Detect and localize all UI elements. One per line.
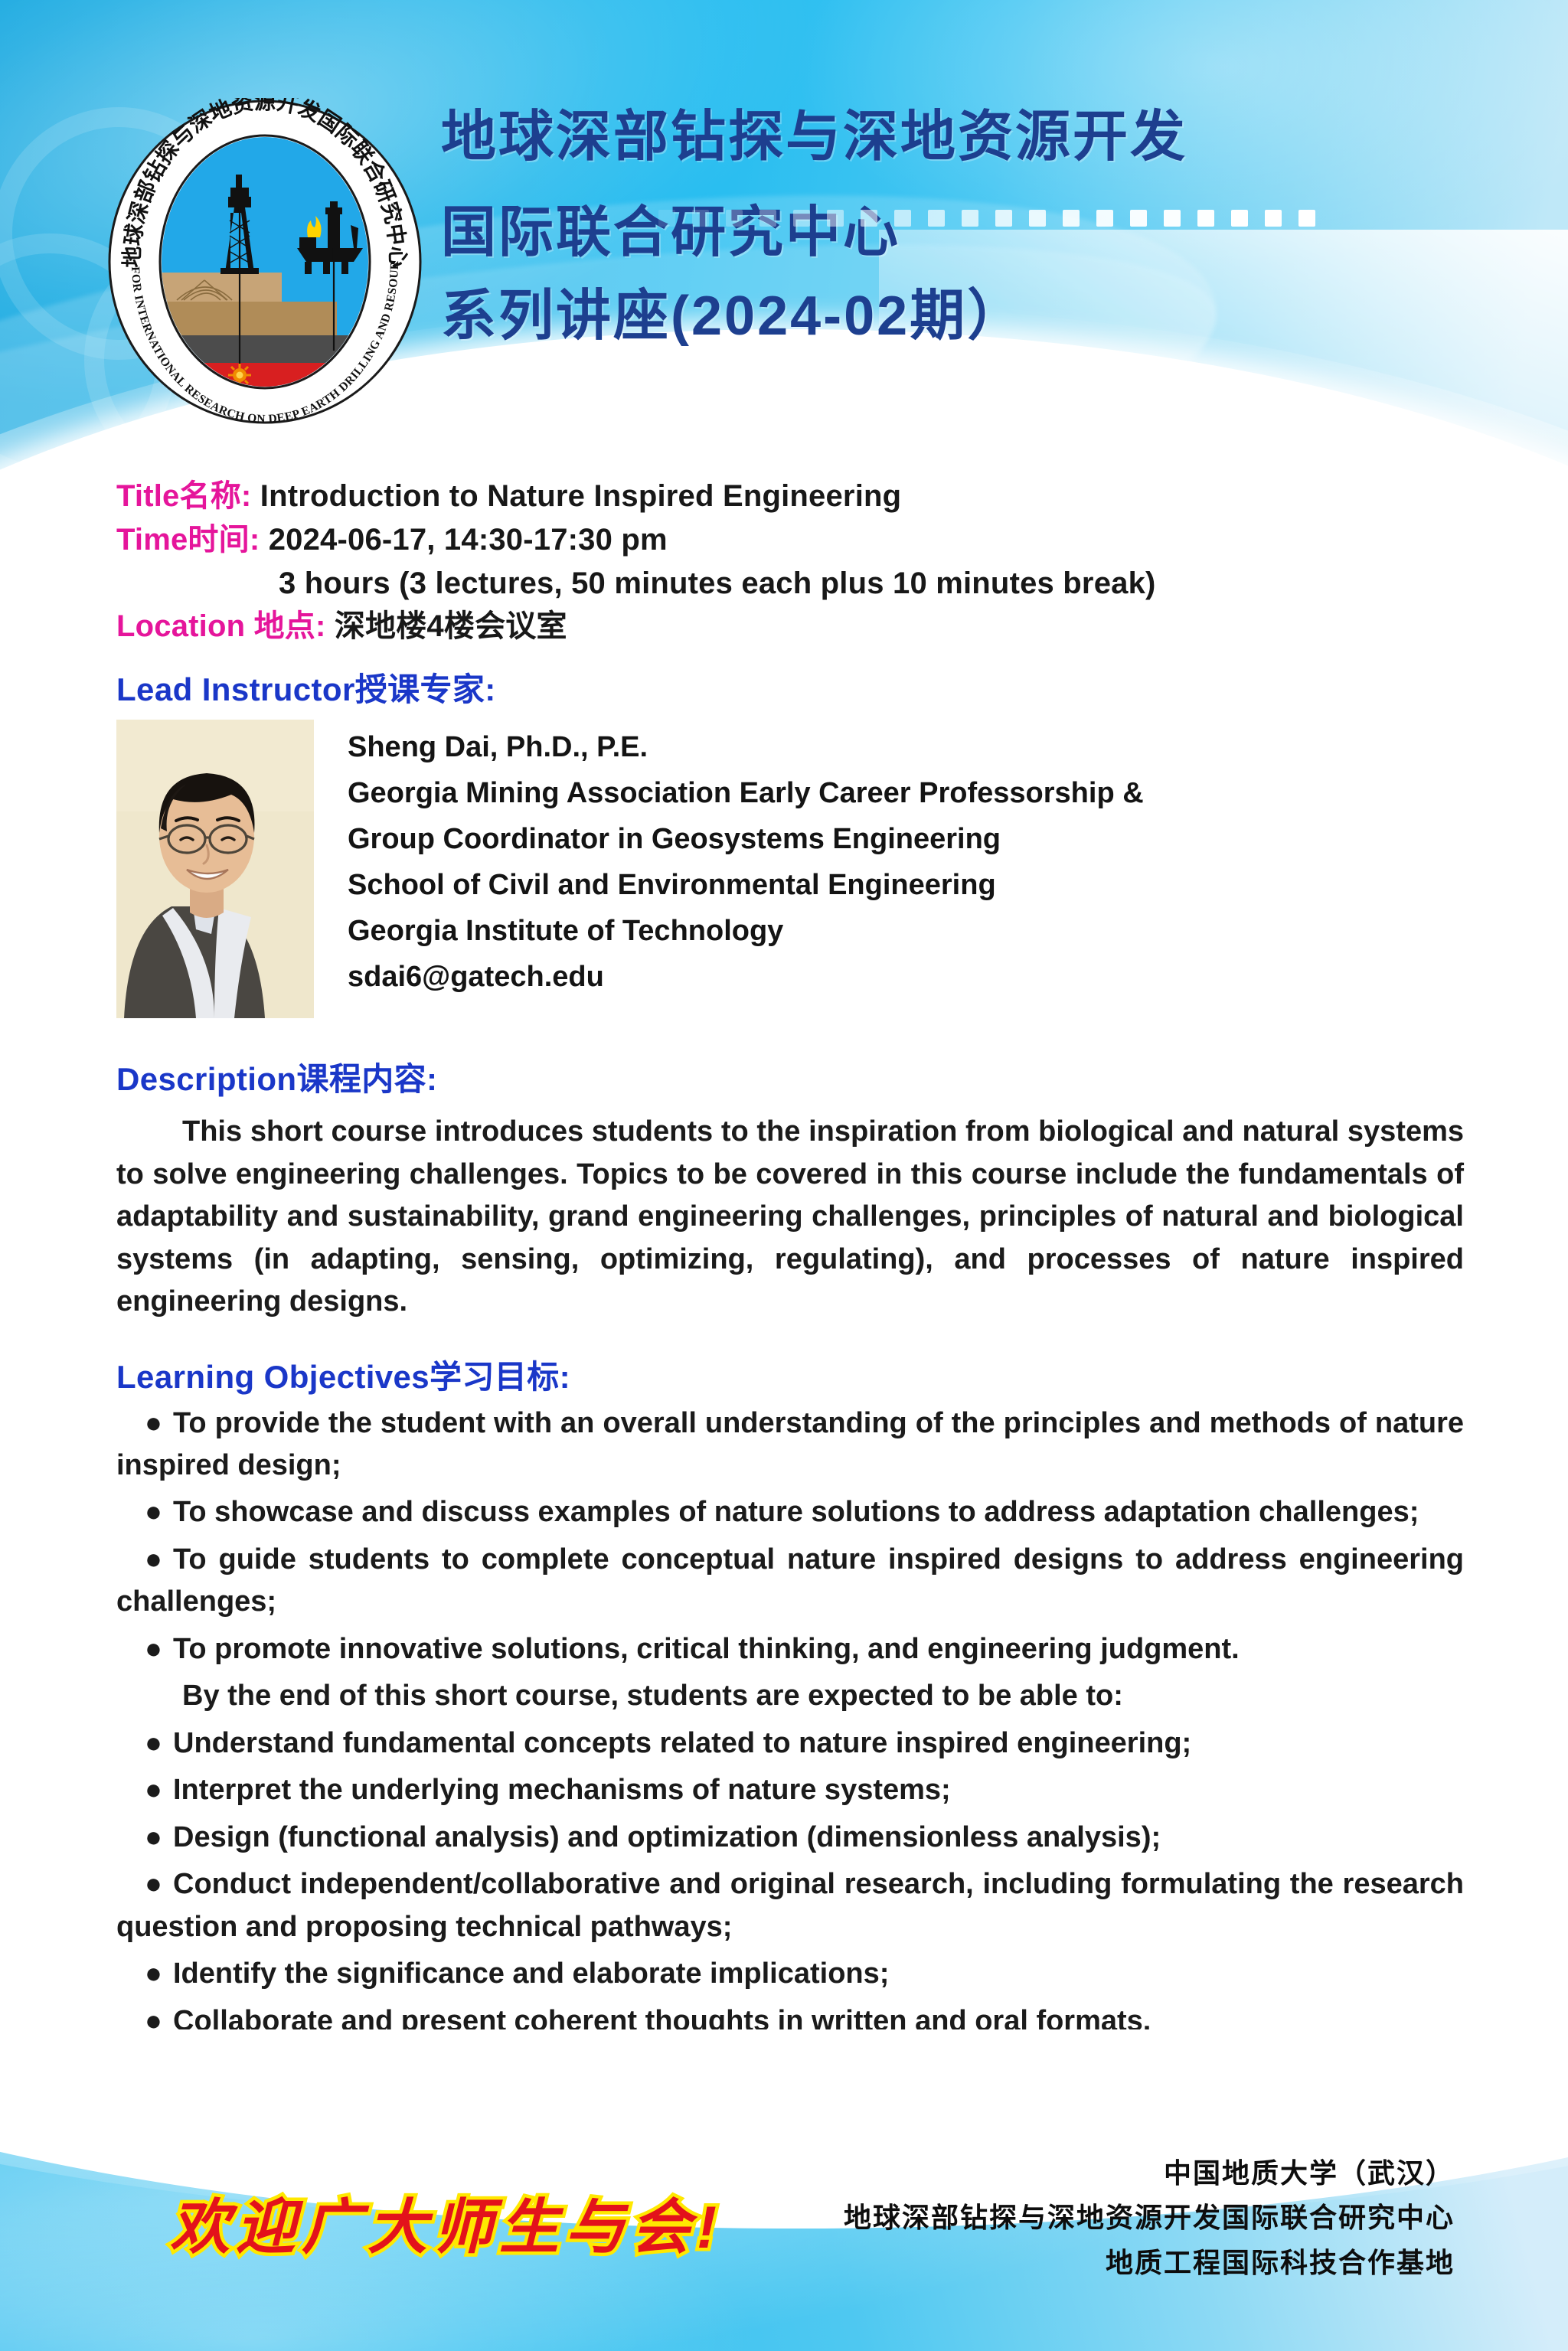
objective-item: ●To showcase and discuss examples of nat… <box>116 1491 1464 1533</box>
organizer-line-3: 地质工程国际科技合作基地 <box>844 2241 1455 2285</box>
objective-text: To guide students to complete conceptual… <box>116 1543 1464 1618</box>
center-logo: 地球深部钻探与深地资源开发国际联合研究中心 NATIONAL CENTER FO… <box>104 98 426 426</box>
instructor-line-4: School of Civil and Environmental Engine… <box>348 862 1144 908</box>
objective-item: ●To promote innovative solutions, critic… <box>116 1628 1464 1670</box>
title-line: Title名称: Introduction to Nature Inspired… <box>116 475 1464 518</box>
location-line: Location 地点: 深地楼4楼会议室 <box>116 605 1464 648</box>
organizer-line-1: 中国地质大学（武汉） <box>844 2151 1455 2196</box>
instructor-photo <box>116 720 314 1018</box>
bullet-dot-icon: ● <box>116 1539 173 1581</box>
welcome-slogan: 欢迎广大师生与会! <box>170 2180 723 2265</box>
instructor-heading: Lead Instructor授课专家: <box>116 664 1464 710</box>
objective-text: To promote innovative solutions, critica… <box>173 1633 1240 1665</box>
bullet-dot-icon: ● <box>116 1402 173 1445</box>
outcome-item: ●Conduct independent/collaborative and o… <box>116 1863 1464 1948</box>
header-title-line-3: 系列讲座(2024-02期） <box>441 288 1513 345</box>
description-heading: Description课程内容: <box>116 1053 1464 1100</box>
bullet-dot-icon: ● <box>116 1769 173 1811</box>
time-value: 2024-06-17, 14:30-17:30 pm <box>269 523 668 557</box>
organizer-line-2: 地球深部钻探与深地资源开发国际联合研究中心 <box>844 2196 1455 2240</box>
emblem-icon: 地球深部钻探与深地资源开发国际联合研究中心 NATIONAL CENTER FO… <box>104 98 426 426</box>
outcome-item: ●Design (functional analysis) and optimi… <box>116 1817 1464 1859</box>
time-extra-line: 3 hours (3 lectures, 50 minutes each plu… <box>116 562 1464 606</box>
poster-footer: 欢迎广大师生与会! 中国地质大学（武汉） 地球深部钻探与深地资源开发国际联合研究… <box>0 2029 1568 2351</box>
poster-body: Title名称: Introduction to Nature Inspired… <box>116 475 1464 2042</box>
outcome-text: Conduct independent/collaborative and or… <box>116 1868 1464 1942</box>
title-label: Title名称: <box>116 479 251 513</box>
outcome-item: ●Interpret the underlying mechanisms of … <box>116 1769 1464 1811</box>
portrait-image <box>116 720 314 1018</box>
bullet-dot-icon: ● <box>116 1491 173 1533</box>
objectives-list: ●To provide the student with an overall … <box>116 1402 1464 2043</box>
instructor-line-2: Georgia Mining Association Early Career … <box>348 770 1144 816</box>
instructor-line-5: Georgia Institute of Technology <box>348 908 1144 954</box>
organizer-block: 中国地质大学（武汉） 地球深部钻探与深地资源开发国际联合研究中心 地质工程国际科… <box>844 2151 1455 2285</box>
outcome-item: ●Identify the significance and elaborate… <box>116 1953 1464 1995</box>
bullet-dot-icon: ● <box>116 1863 173 1905</box>
bullet-dot-icon: ● <box>116 1953 173 1995</box>
objective-text: To showcase and discuss examples of natu… <box>173 1496 1419 1528</box>
description-body: This short course introduces students to… <box>116 1111 1464 1323</box>
time-line: Time时间: 2024-06-17, 14:30-17:30 pm <box>116 518 1464 562</box>
outcome-item: ●Understand fundamental concepts related… <box>116 1722 1464 1765</box>
header-title-line-1: 地球深部钻探与深地资源开发 <box>441 109 1513 166</box>
time-extra-value: 3 hours (3 lectures, 50 minutes each plu… <box>279 567 1156 600</box>
header-dashed-divider <box>658 208 1470 228</box>
outcomes-intro: By the end of this short course, student… <box>116 1675 1464 1717</box>
location-value: 深地楼4楼会议室 <box>335 609 567 643</box>
instructor-block: Sheng Dai, Ph.D., P.E. Georgia Mining As… <box>116 720 1464 1018</box>
outcome-text: Design (functional analysis) and optimiz… <box>173 1821 1161 1853</box>
instructor-line-1: Sheng Dai, Ph.D., P.E. <box>348 724 1144 770</box>
bullet-dot-icon: ● <box>116 1817 173 1859</box>
outcome-text: Understand fundamental concepts related … <box>173 1727 1191 1759</box>
instructor-bio: Sheng Dai, Ph.D., P.E. Georgia Mining As… <box>348 720 1144 1000</box>
instructor-line-3: Group Coordinator in Geosystems Engineer… <box>348 816 1144 862</box>
objective-item: ●To guide students to complete conceptua… <box>116 1539 1464 1624</box>
time-label: Time时间: <box>116 523 260 557</box>
instructor-email[interactable]: sdai6@gatech.edu <box>348 954 1144 1000</box>
outcome-text: Identify the significance and elaborate … <box>173 1958 889 1990</box>
objective-item: ●To provide the student with an overall … <box>116 1402 1464 1487</box>
objectives-heading: Learning Objectives学习目标: <box>116 1351 1464 1398</box>
lecture-poster: 地球深部钻探与深地资源开发国际联合研究中心 NATIONAL CENTER FO… <box>0 0 1568 2351</box>
objective-text: To provide the student with an overall u… <box>116 1407 1464 1481</box>
bullet-dot-icon: ● <box>116 1628 173 1670</box>
location-label: Location 地点: <box>116 609 326 643</box>
outcome-text: Interpret the underlying mechanisms of n… <box>173 1774 951 1806</box>
title-value: Introduction to Nature Inspired Engineer… <box>260 479 902 513</box>
bullet-dot-icon: ● <box>116 1722 173 1765</box>
